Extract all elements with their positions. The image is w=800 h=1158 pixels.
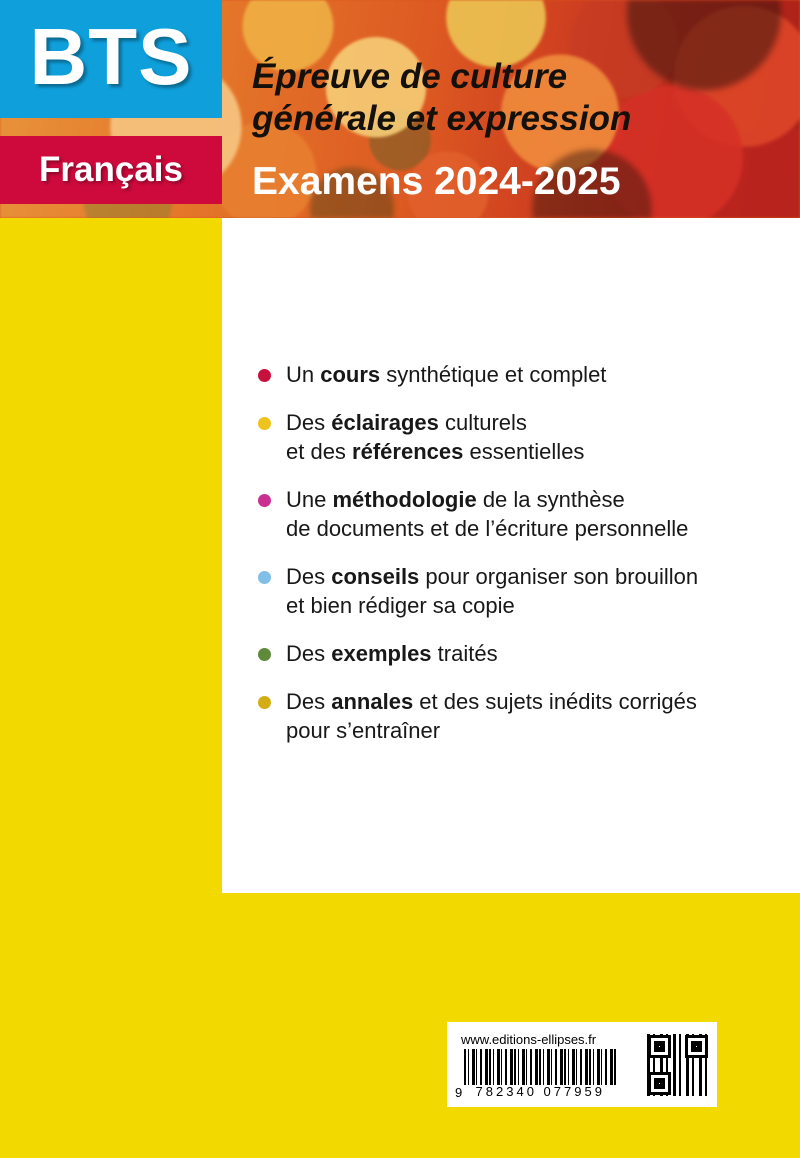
publisher-url: www.editions-ellipses.fr: [461, 1032, 596, 1047]
feature-text-segment: essentielles: [463, 439, 584, 464]
feature-list-item-text: Des exemples traités: [286, 639, 498, 668]
feature-list-item: Une méthodologie de la synthèsede docume…: [258, 485, 778, 543]
feature-text-segment: synthétique et complet: [380, 362, 606, 387]
feature-list-item-text: Une méthodologie de la synthèsede docume…: [286, 485, 688, 543]
feature-text-segment: Des: [286, 689, 331, 714]
brand-logo-block: BTS Français: [0, 0, 222, 218]
bullet-dot-icon: [258, 369, 271, 382]
feature-text-line: Des conseils pour organiser son brouillo…: [286, 562, 698, 591]
feature-text-line: pour s’entraîner: [286, 716, 697, 745]
cover-title: Épreuve de culture générale et expressio…: [252, 56, 792, 140]
feature-keyword: annales: [331, 689, 413, 714]
feature-list-item-text: Des éclairages culturelset des référence…: [286, 408, 584, 466]
feature-text-segment: de documents et de l’écriture personnell…: [286, 516, 688, 541]
bullet-dot-icon: [258, 571, 271, 584]
feature-keyword: références: [352, 439, 463, 464]
feature-keyword: cours: [320, 362, 380, 387]
feature-list-item: Des éclairages culturelset des référence…: [258, 408, 778, 466]
feature-list-item-text: Un cours synthétique et complet: [286, 360, 606, 389]
feature-text-line: Des éclairages culturels: [286, 408, 584, 437]
feature-text-segment: Des: [286, 564, 331, 589]
feature-text-line: et bien rédiger sa copie: [286, 591, 698, 620]
feature-text-segment: Des: [286, 410, 331, 435]
isbn-lead-digit: 9: [455, 1086, 462, 1099]
feature-keyword: méthodologie: [332, 487, 476, 512]
feature-text-segment: et bien rédiger sa copie: [286, 593, 515, 618]
barcode-bars: [464, 1049, 616, 1085]
feature-text-segment: traités: [432, 641, 498, 666]
feature-list-item: Un cours synthétique et complet: [258, 360, 778, 389]
feature-text-segment: Un: [286, 362, 320, 387]
content-panel: Un cours synthétique et completDes éclai…: [222, 218, 800, 893]
barcode-bars-column: 782340 077959: [464, 1049, 616, 1099]
subject-badge-text: Français: [39, 152, 183, 189]
cover-title-line-2: générale et expression: [252, 98, 792, 140]
feature-text-line: et des références essentielles: [286, 437, 584, 466]
subject-badge-francais: Français: [0, 136, 222, 204]
feature-keyword: éclairages: [331, 410, 439, 435]
feature-keyword: conseils: [331, 564, 419, 589]
feature-text-segment: culturels: [439, 410, 527, 435]
feature-text-segment: et des sujets inédits corrigés: [413, 689, 697, 714]
feature-list-item: Des conseils pour organiser son brouillo…: [258, 562, 778, 620]
feature-text-line: Une méthodologie de la synthèse: [286, 485, 688, 514]
feature-text-segment: Une: [286, 487, 332, 512]
feature-text-segment: de la synthèse: [477, 487, 625, 512]
feature-list-item: Des annales et des sujets inédits corrig…: [258, 687, 778, 745]
feature-text-segment: pour organiser son brouillon: [419, 564, 698, 589]
bts-logo-text: BTS: [30, 17, 193, 101]
ean13-barcode: 9 782340 077959: [455, 1049, 616, 1099]
feature-list-item-text: Des conseils pour organiser son brouillo…: [286, 562, 698, 620]
feature-text-segment: et des: [286, 439, 352, 464]
feature-text-segment: pour s’entraîner: [286, 718, 440, 743]
bullet-dot-icon: [258, 494, 271, 507]
book-back-cover: BTS Français Épreuve de culture générale…: [0, 0, 800, 1158]
bullet-dot-icon: [258, 417, 271, 430]
feature-text-line: de documents et de l’écriture personnell…: [286, 514, 688, 543]
barcode-block: www.editions-ellipses.fr 9 782340 077959: [447, 1022, 717, 1107]
feature-list: Un cours synthétique et completDes éclai…: [258, 360, 778, 745]
barcode-left-group: www.editions-ellipses.fr 9 782340 077959: [455, 1028, 639, 1102]
feature-text-segment: Des: [286, 641, 331, 666]
feature-keyword: exemples: [331, 641, 431, 666]
qr-code-icon[interactable]: [647, 1034, 709, 1096]
isbn-digits: 782340 077959: [464, 1085, 616, 1099]
feature-text-line: Des annales et des sujets inédits corrig…: [286, 687, 697, 716]
feature-text-line: Des exemples traités: [286, 639, 498, 668]
bts-logo-badge: BTS: [0, 0, 222, 118]
feature-list-item-text: Des annales et des sujets inédits corrig…: [286, 687, 697, 745]
bullet-dot-icon: [258, 696, 271, 709]
qr-finder-bottom-left: [648, 1072, 671, 1095]
feature-text-line: Un cours synthétique et complet: [286, 360, 606, 389]
cover-title-line-1: Épreuve de culture: [252, 56, 792, 98]
bullet-dot-icon: [258, 648, 271, 661]
exam-years-label: Examens 2024-2025: [252, 160, 621, 204]
feature-list-item: Des exemples traités: [258, 639, 778, 668]
